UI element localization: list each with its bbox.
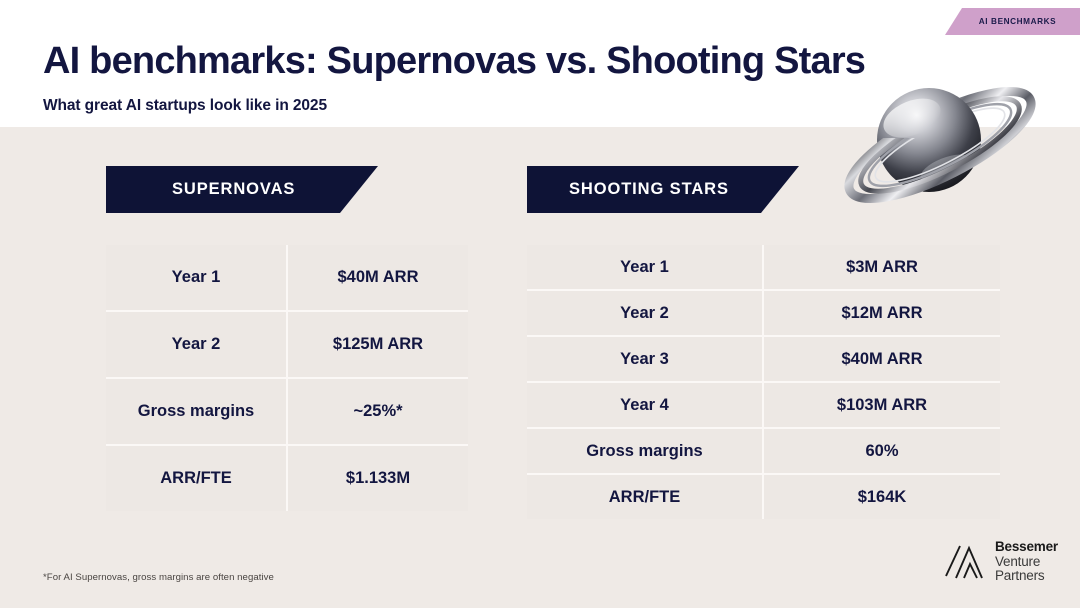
table-cell-label: Year 2 xyxy=(106,312,286,377)
bessemer-chevron-mark xyxy=(944,542,986,582)
table-row: Year 2 $125M ARR xyxy=(106,312,468,377)
table-row: Gross margins ~25%* xyxy=(106,379,468,444)
table-row: Year 1 $40M ARR xyxy=(106,245,468,310)
table-cell-value: $1.133M xyxy=(288,446,468,511)
logo-line-venture: Venture xyxy=(995,555,1058,570)
table-cell-label: Year 2 xyxy=(527,291,762,335)
category-badge: AI BENCHMARKS xyxy=(945,8,1080,35)
logo-line-partners: Partners xyxy=(995,569,1058,584)
section-banner-label: SHOOTING STARS xyxy=(569,180,729,199)
table-cell-label: ARR/FTE xyxy=(106,446,286,511)
table-cell-value: $103M ARR xyxy=(764,383,1000,427)
table-cell-label: Year 1 xyxy=(106,245,286,310)
table-cell-value: $40M ARR xyxy=(764,337,1000,381)
table-row: Year 3 $40M ARR xyxy=(527,337,1000,381)
table-supernovas: Year 1 $40M ARR Year 2 $125M ARR Gross m… xyxy=(106,245,468,511)
table-row: ARR/FTE $164K xyxy=(527,475,1000,519)
bessemer-logo: Bessemer Venture Partners xyxy=(944,540,1058,584)
table-cell-label: Gross margins xyxy=(106,379,286,444)
section-banner-supernovas: SUPERNOVAS xyxy=(106,166,378,213)
table-cell-value: 60% xyxy=(764,429,1000,473)
footnote: *For AI Supernovas, gross margins are of… xyxy=(43,572,274,583)
table-cell-label: Year 1 xyxy=(527,245,762,289)
table-cell-label: Gross margins xyxy=(527,429,762,473)
table-cell-label: Year 3 xyxy=(527,337,762,381)
logo-line-bessemer: Bessemer xyxy=(995,540,1058,555)
table-cell-value: $164K xyxy=(764,475,1000,519)
table-cell-value: ~25%* xyxy=(288,379,468,444)
table-cell-value: $125M ARR xyxy=(288,312,468,377)
table-shooting-stars: Year 1 $3M ARR Year 2 $12M ARR Year 3 $4… xyxy=(527,245,1000,519)
bessemer-logo-text: Bessemer Venture Partners xyxy=(995,540,1058,584)
table-cell-value: $40M ARR xyxy=(288,245,468,310)
table-cell-value: $3M ARR xyxy=(764,245,1000,289)
slide-canvas: AI BENCHMARKS AI benchmarks: Supernovas … xyxy=(0,0,1080,608)
page-subtitle: What great AI startups look like in 2025 xyxy=(43,97,327,115)
category-badge-label: AI BENCHMARKS xyxy=(969,17,1056,26)
table-row: Year 4 $103M ARR xyxy=(527,383,1000,427)
table-cell-label: Year 4 xyxy=(527,383,762,427)
table-row: Year 2 $12M ARR xyxy=(527,291,1000,335)
table-row: Year 1 $3M ARR xyxy=(527,245,1000,289)
table-row: ARR/FTE $1.133M xyxy=(106,446,468,511)
table-row: Gross margins 60% xyxy=(527,429,1000,473)
table-cell-value: $12M ARR xyxy=(764,291,1000,335)
page-title: AI benchmarks: Supernovas vs. Shooting S… xyxy=(43,40,865,83)
table-cell-label: ARR/FTE xyxy=(527,475,762,519)
section-banner-shooting-stars: SHOOTING STARS xyxy=(527,166,799,213)
section-banner-label: SUPERNOVAS xyxy=(172,180,295,199)
